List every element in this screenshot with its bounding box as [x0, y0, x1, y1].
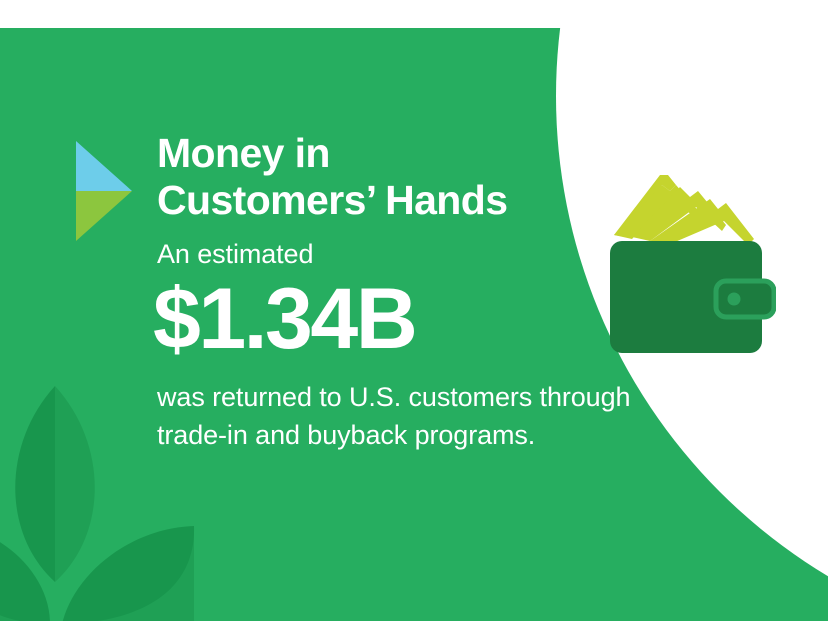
play-triangle-logo-icon [76, 141, 132, 241]
infographic-canvas: Money in Customers’ Hands An estimated $… [0, 0, 828, 621]
big-statistic: $1.34B [153, 276, 757, 362]
kicker-text: An estimated [157, 238, 757, 270]
text-block: Money in Customers’ Hands An estimated $… [157, 130, 757, 454]
page-title: Money in Customers’ Hands [157, 130, 757, 224]
body-copy: was returned to U.S. customers through t… [157, 378, 757, 454]
